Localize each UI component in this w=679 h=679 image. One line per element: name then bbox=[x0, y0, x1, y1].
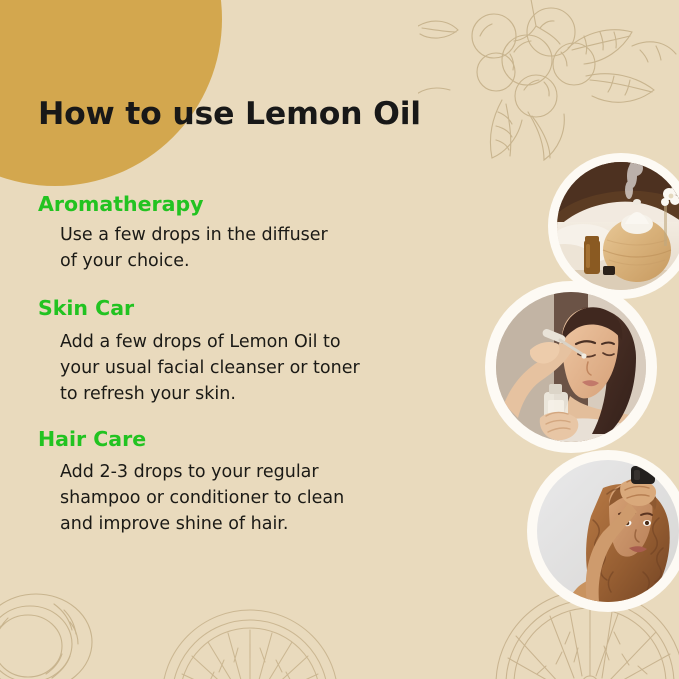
section-body-skin-care: Add a few drops of Lemon Oil to your usu… bbox=[60, 330, 458, 408]
diffuser-photo bbox=[548, 153, 679, 299]
lemon-half-illustration bbox=[0, 584, 112, 679]
section-body-hair-care: Add 2-3 drops to your regular shampoo or… bbox=[60, 460, 458, 538]
body-line: Use a few drops in the diffuser bbox=[60, 223, 458, 249]
body-line: shampoo or conditioner to clean bbox=[60, 486, 458, 512]
haircare-photo bbox=[527, 450, 679, 612]
section-body-aromatherapy: Use a few drops in the diffuser of your … bbox=[60, 223, 458, 275]
body-line: and improve shine of hair. bbox=[60, 512, 458, 538]
skincare-photo-image bbox=[496, 292, 646, 442]
body-line: Add a few drops of Lemon Oil to bbox=[60, 330, 458, 356]
usage-sections: Aromatherapy Use a few drops in the diff… bbox=[38, 193, 458, 555]
poster-canvas: How to use Lemon Oil Aromatherapy Use a … bbox=[0, 0, 679, 679]
body-line: to refresh your skin. bbox=[60, 382, 458, 408]
diffuser-photo-image bbox=[557, 162, 679, 290]
section-title-skin-care: Skin Car bbox=[38, 297, 458, 321]
body-line: of your choice. bbox=[60, 249, 458, 275]
section-hair-care: Hair Care Add 2-3 drops to your regular … bbox=[38, 428, 458, 537]
haircare-photo-image bbox=[537, 460, 679, 602]
lemon-slice-illustration-left bbox=[160, 608, 340, 679]
section-skin-care: Skin Car Add a few drops of Lemon Oil to… bbox=[38, 297, 458, 408]
gold-accent-circle bbox=[0, 0, 222, 186]
page-title: How to use Lemon Oil bbox=[38, 96, 421, 132]
section-title-hair-care: Hair Care bbox=[38, 428, 458, 452]
skincare-photo bbox=[485, 281, 657, 453]
section-aromatherapy: Aromatherapy Use a few drops in the diff… bbox=[38, 193, 458, 275]
section-title-aromatherapy: Aromatherapy bbox=[38, 193, 458, 217]
body-line: your usual facial cleanser or toner bbox=[60, 356, 458, 382]
body-line: Add 2-3 drops to your regular bbox=[60, 460, 458, 486]
